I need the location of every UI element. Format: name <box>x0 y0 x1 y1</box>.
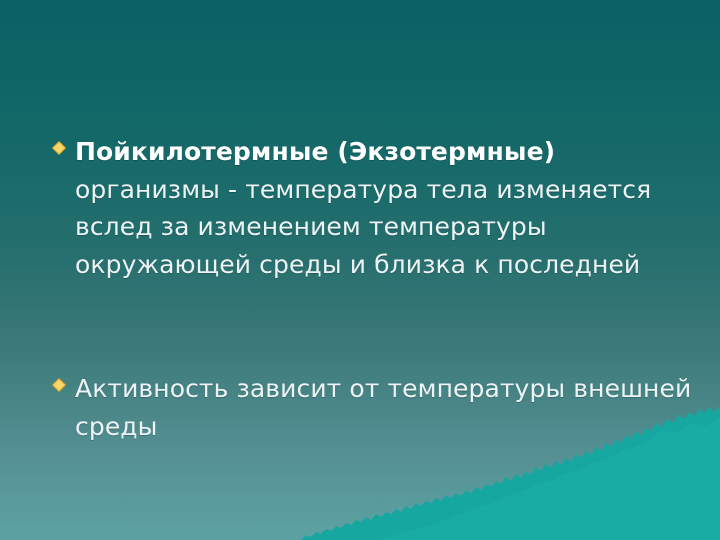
bullet-item-2: Активность зависит от температуры внешне… <box>52 370 702 445</box>
slide-body: Пойкилотермные (Экзотермные) организмы -… <box>0 0 720 540</box>
bullet-2-text: Активность зависит от температуры внешне… <box>52 370 702 445</box>
bullet-item-1: Пойкилотермные (Экзотермные) организмы -… <box>52 133 702 283</box>
diamond-bullet-icon <box>52 141 66 155</box>
bullet-1-text: Пойкилотермные (Экзотермные) организмы -… <box>52 133 702 283</box>
diamond-bullet-icon <box>52 378 66 392</box>
presentation-slide: Пойкилотермные (Экзотермные) организмы -… <box>0 0 720 540</box>
bullet-row-2: Активность зависит от температуры внешне… <box>52 370 702 445</box>
bullet-1-rest: организмы - температура тела изменяется … <box>75 175 651 279</box>
bullet-row-1: Пойкилотермные (Экзотермные) организмы -… <box>52 133 702 283</box>
bullet-1-bold-lead: Пойкилотермные (Экзотермные) <box>75 137 555 166</box>
